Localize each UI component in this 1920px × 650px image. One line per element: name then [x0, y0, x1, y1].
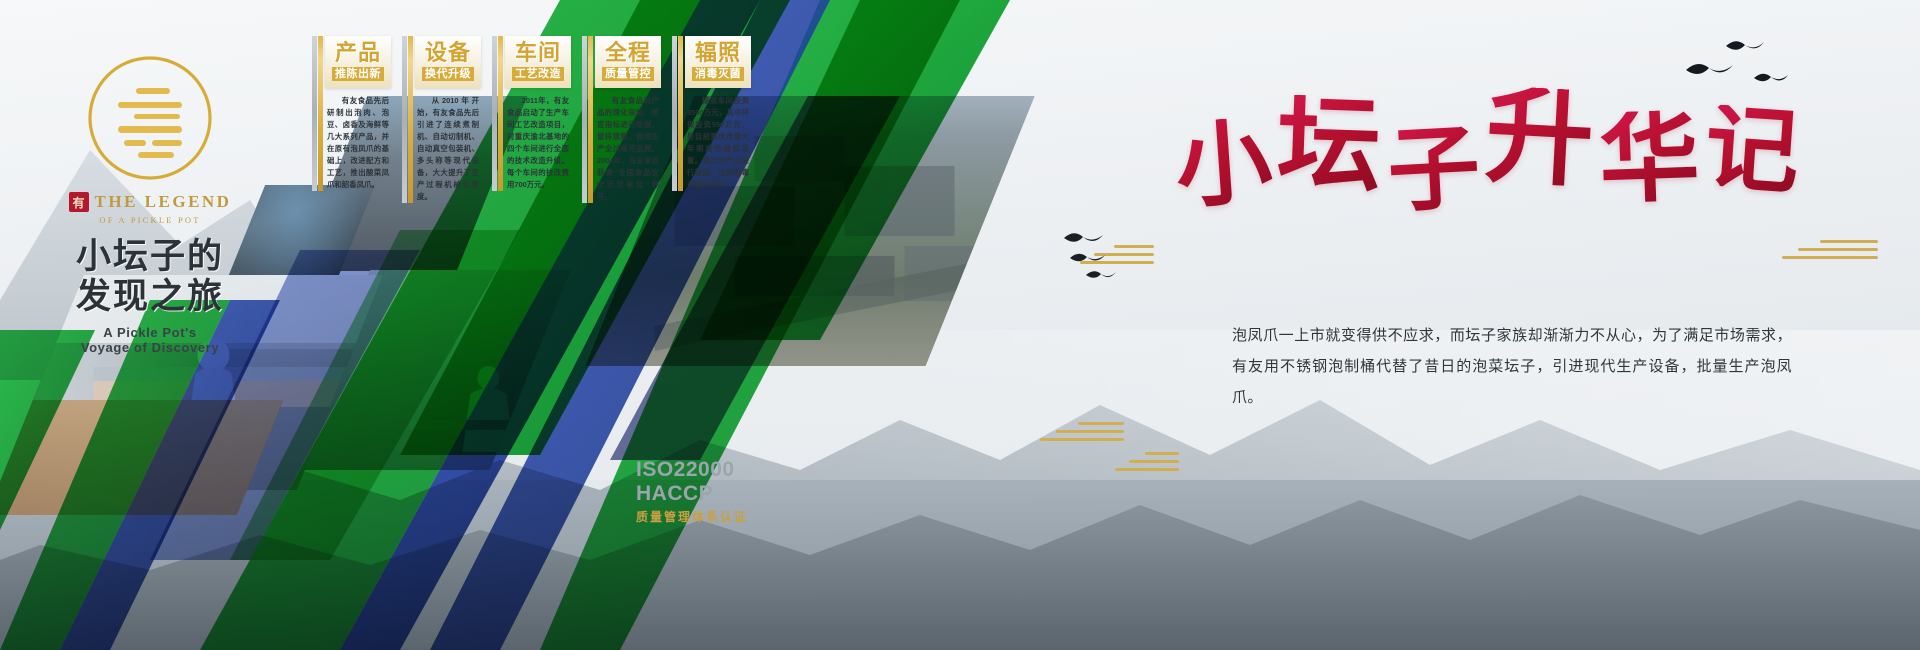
info-card-product[interactable]: 产品 推陈出新 有友食品先后研制出泡肉、泡豆、卤香及海鲜等几大系列产品，并在原有… [325, 36, 391, 191]
card-header: 车间 工艺改造 [505, 36, 571, 88]
body-paragraph: 泡凤爪一上市就变得供不应求，而坛子家族却渐渐力不从心，为了满足市场需求，有友用不… [1232, 320, 1792, 414]
hero-title: 小 坛 子 升 华 记 [1175, 98, 1799, 197]
card-body: 辐照车间投资3500万元，其中环保投资550万元，是目前重庆市最大年限度的辐照装… [685, 95, 751, 191]
hero-char-4: 升 [1483, 85, 1596, 190]
card-header: 设备 换代升级 [415, 36, 481, 88]
gold-cloud-ornament-right [1782, 240, 1878, 264]
card-grey-spine [312, 36, 317, 191]
card-title: 产品 [329, 41, 387, 64]
brand-en-line1: THE LEGEND [95, 192, 232, 212]
card-gold-spine [498, 36, 503, 191]
card-title: 车间 [509, 41, 567, 64]
info-card-workshop[interactable]: 车间 工艺改造 2011年，有友食品启动了生产车间工艺改造项目，对重庆渝北基地的… [505, 36, 571, 191]
card-gold-spine [588, 36, 593, 203]
brand-cn-title-line2: 发现之旅 [40, 277, 260, 317]
gold-cloud-ornament-left [1040, 422, 1124, 446]
card-subtitle: 工艺改造 [512, 67, 564, 81]
card-body: 2011年，有友食品启动了生产车间工艺改造项目，对重庆渝北基地的四个车间进行全面… [505, 95, 571, 191]
hero-char-1: 小 [1173, 116, 1275, 211]
card-gold-spine [678, 36, 683, 191]
brand-cn-title-line1: 小坛子的 [40, 237, 260, 277]
card-body: 从2010年开始，有友食品先后引进了连续煮制机、自动切制机、自动真空包装机、多头… [415, 95, 481, 203]
card-body: 有友食品对产品的理化指标、感官指标进行检测，留样观察，做到生产全过程可追溯。20… [595, 95, 661, 203]
info-card-quality[interactable]: 全程 质量管控 有友食品对产品的理化指标、感官指标进行检测，留样观察，做到生产全… [595, 36, 661, 203]
brand-en-title-line1: A Pickle Pot's [40, 325, 260, 340]
card-subtitle: 消毒灭菌 [692, 67, 744, 81]
seal-circle-logo [84, 52, 216, 184]
hero-char-6: 记 [1702, 104, 1802, 197]
card-grey-spine [582, 36, 587, 203]
card-grey-spine [672, 36, 677, 191]
info-card-irradiation[interactable]: 辐照 消毒灭菌 辐照车间投资3500万元，其中环保投资550万元，是目前重庆市最… [685, 36, 751, 191]
hero-char-2: 坛 [1276, 94, 1383, 193]
bird-icon-flock-top [1680, 30, 1800, 100]
cert-line-cn: 质量管理体系认证 [636, 508, 748, 525]
card-grey-spine [402, 36, 407, 203]
card-subtitle: 质量管控 [602, 67, 654, 81]
photo-worker-station [0, 400, 283, 515]
hero-char-3: 子 [1386, 124, 1482, 213]
brand-en-title-line2: Voyage of Discovery [40, 340, 260, 355]
hero-char-5: 华 [1598, 110, 1701, 205]
card-header: 辐照 消毒灭菌 [685, 36, 751, 88]
poster-canvas: 有 THE LEGEND OF A PICKLE POT 小坛子的 发现之旅 A… [0, 0, 1920, 650]
brand-lockup: 有 THE LEGEND OF A PICKLE POT 小坛子的 发现之旅 A… [40, 52, 260, 355]
bird-icon-small [1082, 255, 1142, 295]
red-seal-icon: 有 [69, 192, 89, 212]
card-gold-spine [408, 36, 413, 203]
card-body: 有友食品先后研制出泡肉、泡豆、卤香及海鲜等几大系列产品，并在原有泡凤爪的基础上，… [325, 95, 391, 191]
brand-en-line2: OF A PICKLE POT [40, 215, 260, 225]
info-card-equipment[interactable]: 设备 换代升级 从2010年开始，有友食品先后引进了连续煮制机、自动切制机、自动… [415, 36, 481, 203]
card-title: 全程 [599, 41, 657, 64]
card-subtitle: 推陈出新 [332, 67, 384, 81]
card-gold-spine [318, 36, 323, 191]
card-grey-spine [492, 36, 497, 191]
cert-line-haccp: HACCP [636, 482, 748, 506]
cert-line-iso: ISO22000 [636, 458, 748, 482]
card-title: 设备 [419, 41, 477, 64]
card-title: 辐照 [689, 41, 747, 64]
card-header: 产品 推陈出新 [325, 36, 391, 88]
gold-cloud-ornament-small [1115, 452, 1179, 476]
card-header: 全程 质量管控 [595, 36, 661, 88]
certification-block: ISO22000 HACCP 质量管理体系认证 [636, 458, 748, 525]
brand-wordmark-row: 有 THE LEGEND [40, 192, 260, 212]
card-subtitle: 换代升级 [422, 67, 474, 81]
